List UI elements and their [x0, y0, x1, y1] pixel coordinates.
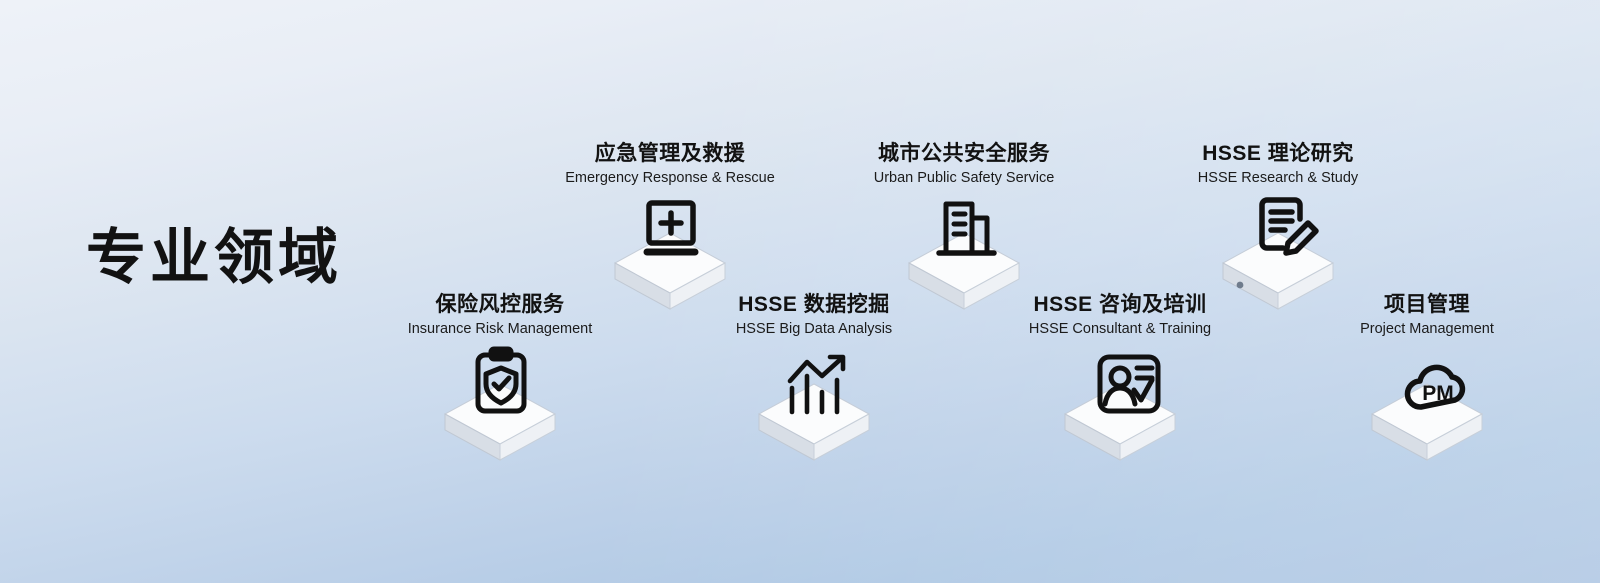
field-card-hsse-big-data[interactable]: HSSE 数据挖掘 HSSE Big Data Analysis: [664, 293, 964, 466]
field-label-en: Project Management: [1277, 320, 1577, 339]
field-card-emergency-response[interactable]: 应急管理及救援 Emergency Response & Rescue: [520, 142, 820, 315]
field-artwork: [350, 346, 650, 466]
clipboard-shield-check-icon: [464, 346, 538, 420]
field-label-cn: HSSE 理论研究: [1128, 142, 1428, 166]
cloud-pm-icon: PM: [1401, 354, 1475, 428]
field-labels: 项目管理 Project Management: [1277, 293, 1577, 338]
field-label-en: Urban Public Safety Service: [814, 169, 1114, 188]
field-labels: 应急管理及救援 Emergency Response & Rescue: [520, 142, 820, 187]
field-labels: HSSE 数据挖掘 HSSE Big Data Analysis: [664, 293, 964, 338]
field-card-project-management[interactable]: 项目管理 Project Management PM: [1277, 293, 1577, 466]
field-artwork: [970, 346, 1270, 466]
bar-chart-trend-icon: [780, 348, 854, 422]
svg-text:PM: PM: [1422, 382, 1454, 405]
city-buildings-icon: [930, 196, 1004, 270]
field-labels: 保险风控服务 Insurance Risk Management: [350, 293, 650, 338]
field-label-en: HSSE Consultant & Training: [970, 320, 1270, 339]
field-label-cn: HSSE 数据挖掘: [664, 293, 964, 317]
field-artwork: PM: [1277, 346, 1577, 466]
first-aid-monitor-icon: [634, 197, 708, 271]
field-label-cn: 项目管理: [1277, 293, 1577, 317]
field-label-en: HSSE Research & Study: [1128, 169, 1428, 188]
professional-fields-banner: 专业领域 应急管理及救援 Emergency Response & Rescue: [0, 0, 1600, 583]
page-title: 专业领域: [86, 228, 342, 288]
field-label-en: HSSE Big Data Analysis: [664, 320, 964, 339]
field-artwork: [664, 346, 964, 466]
field-label-cn: 应急管理及救援: [520, 142, 820, 166]
field-label-cn: 保险风控服务: [350, 293, 650, 317]
field-label-cn: 城市公共安全服务: [814, 142, 1114, 166]
field-labels: 城市公共安全服务 Urban Public Safety Service: [814, 142, 1114, 187]
field-card-insurance-risk[interactable]: 保险风控服务 Insurance Risk Management: [350, 293, 650, 466]
field-labels: HSSE 咨询及培训 HSSE Consultant & Training: [970, 293, 1270, 338]
field-label-en: Insurance Risk Management: [350, 320, 650, 339]
document-pencil-icon: [1250, 193, 1324, 267]
field-label-en: Emergency Response & Rescue: [520, 169, 820, 188]
person-card-check-icon: [1092, 350, 1166, 424]
field-label-cn: HSSE 咨询及培训: [970, 293, 1270, 317]
field-card-hsse-consultant[interactable]: HSSE 咨询及培训 HSSE Consultant & Training: [970, 293, 1270, 466]
field-card-urban-public-safety[interactable]: 城市公共安全服务 Urban Public Safety Service: [814, 142, 1114, 315]
field-card-hsse-research[interactable]: HSSE 理论研究 HSSE Research & Study: [1128, 142, 1428, 315]
field-labels: HSSE 理论研究 HSSE Research & Study: [1128, 142, 1428, 187]
